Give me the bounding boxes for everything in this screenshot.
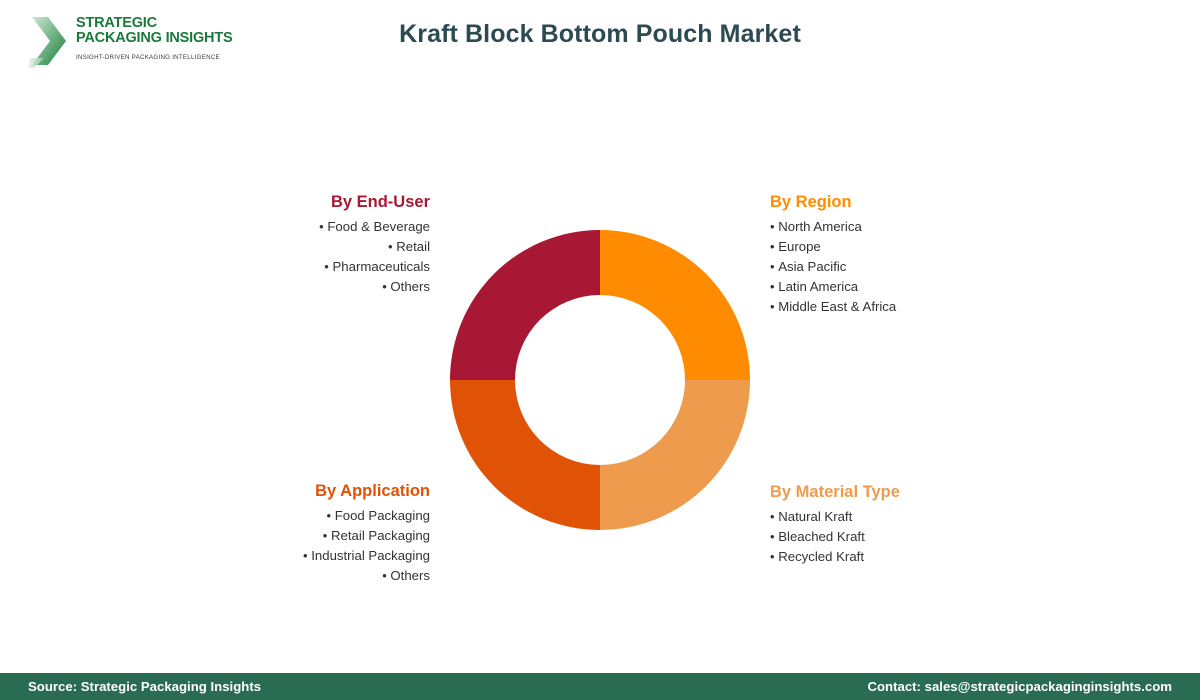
bullet-icon: •	[770, 259, 775, 274]
list-item-label: Retail	[396, 239, 430, 254]
bullet-icon: •	[770, 529, 775, 544]
bullet-icon: •	[323, 528, 328, 543]
logo-tagline: INSIGHT-DRIVEN PACKAGING INTELLIGENCE	[76, 54, 232, 61]
list-item: • Middle East & Africa	[770, 297, 1030, 317]
list-item-label: Pharmaceuticals	[333, 259, 430, 274]
list-item-label: Food Packaging	[335, 508, 430, 523]
list-item: • Food Packaging	[170, 506, 430, 526]
list-item: • Others	[180, 277, 430, 297]
list-item: • Food & Beverage	[180, 217, 430, 237]
list-item: • Bleached Kraft	[770, 527, 1030, 547]
list-item-label: Others	[390, 568, 430, 583]
footer-bar: Source: Strategic Packaging Insights Con…	[0, 673, 1200, 700]
category-region-title: By Region	[770, 193, 1030, 212]
list-item: • Asia Pacific	[770, 257, 1030, 277]
bullet-icon: •	[388, 239, 393, 254]
bullet-icon: •	[324, 259, 329, 274]
list-item: • North America	[770, 217, 1030, 237]
category-region: By Region • North America • Europe • Asi…	[770, 193, 1030, 317]
list-item-label: Asia Pacific	[778, 259, 846, 274]
donut-segment-region[interactable]	[600, 230, 750, 380]
list-item-label: Retail Packaging	[331, 528, 430, 543]
list-item-label: Recycled Kraft	[778, 549, 864, 564]
category-application-list: • Food Packaging • Retail Packaging • In…	[170, 506, 430, 586]
list-item: • Pharmaceuticals	[180, 257, 430, 277]
category-application-title: By Application	[170, 482, 430, 501]
donut-chart	[450, 230, 750, 530]
page-title: Kraft Block Bottom Pouch Market	[0, 20, 1200, 49]
category-end-user-title: By End-User	[180, 193, 430, 212]
list-item: • Retail Packaging	[170, 526, 430, 546]
bullet-icon: •	[770, 299, 775, 314]
list-item: • Retail	[180, 237, 430, 257]
bullet-icon: •	[770, 219, 775, 234]
list-item-label: Middle East & Africa	[778, 299, 896, 314]
list-item: • Natural Kraft	[770, 507, 1030, 527]
bullet-icon: •	[382, 568, 387, 583]
list-item: • Recycled Kraft	[770, 547, 1030, 567]
category-application: By Application • Food Packaging • Retail…	[170, 482, 430, 586]
donut-segment-application[interactable]	[450, 380, 600, 530]
bullet-icon: •	[319, 219, 324, 234]
bullet-icon: •	[326, 508, 331, 523]
category-material-type-list: • Natural Kraft • Bleached Kraft • Recyc…	[770, 507, 1030, 567]
footer-contact[interactable]: Contact: sales@strategicpackaginginsight…	[867, 679, 1172, 694]
category-region-list: • North America • Europe • Asia Pacific …	[770, 217, 1030, 317]
bullet-icon: •	[303, 548, 308, 563]
footer-source: Source: Strategic Packaging Insights	[28, 679, 261, 694]
list-item: • Europe	[770, 237, 1030, 257]
list-item-label: Natural Kraft	[778, 509, 852, 524]
list-item-label: Food & Beverage	[327, 219, 430, 234]
list-item-label: Europe	[778, 239, 821, 254]
donut-segment-material-type[interactable]	[600, 380, 750, 530]
donut-segment-end-user[interactable]	[450, 230, 600, 380]
list-item: • Others	[170, 566, 430, 586]
list-item-label: North America	[778, 219, 862, 234]
list-item-label: Others	[390, 279, 430, 294]
bullet-icon: •	[770, 509, 775, 524]
category-material-type: By Material Type • Natural Kraft • Bleac…	[770, 483, 1030, 567]
bullet-icon: •	[770, 279, 775, 294]
list-item: • Industrial Packaging	[170, 546, 430, 566]
list-item-label: Latin America	[778, 279, 858, 294]
category-end-user: By End-User • Food & Beverage • Retail •…	[180, 193, 430, 297]
list-item-label: Bleached Kraft	[778, 529, 865, 544]
bullet-icon: •	[770, 239, 775, 254]
list-item-label: Industrial Packaging	[311, 548, 430, 563]
list-item: • Latin America	[770, 277, 1030, 297]
category-material-type-title: By Material Type	[770, 483, 1030, 502]
bullet-icon: •	[770, 549, 775, 564]
bullet-icon: •	[382, 279, 387, 294]
category-end-user-list: • Food & Beverage • Retail • Pharmaceuti…	[180, 217, 430, 297]
